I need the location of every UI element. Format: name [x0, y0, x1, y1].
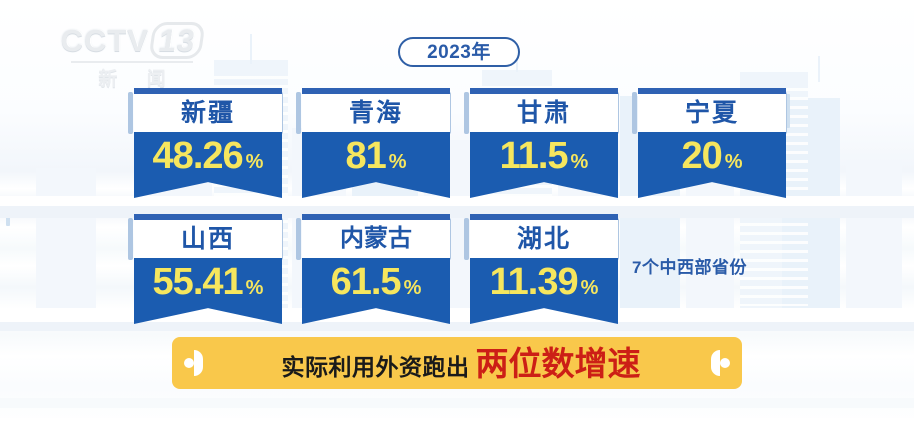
year-badge-label: 2023年 [427, 43, 491, 62]
skyline-antenna [250, 34, 252, 64]
card-separator [128, 218, 133, 260]
card-value-ribbon: 55.41 % [134, 258, 282, 324]
logo-subtitle: 新 闻 [52, 64, 212, 91]
headline-banner: 实际利用外资跑出 两位数增速 [172, 337, 742, 389]
card-separator [128, 92, 133, 134]
province-name: 新疆 [134, 94, 282, 132]
percent-symbol: % [389, 152, 407, 172]
province-card[interactable]: 山西 55.41 % [134, 214, 282, 324]
year-badge: 2023年 [398, 37, 520, 67]
province-value: 48.26 [153, 137, 243, 175]
banner-notch-left [194, 350, 203, 376]
province-card[interactable]: 新疆 48.26 % [134, 88, 282, 198]
percent-symbol: % [246, 278, 264, 298]
logo-channel-text: CCTV [61, 23, 149, 58]
province-card[interactable]: 甘肃 11.5 % [470, 88, 618, 198]
province-card[interactable]: 宁夏 20 % [638, 88, 786, 198]
province-value: 81 [345, 137, 385, 175]
banner-eyelet-right [720, 358, 730, 368]
percent-symbol: % [725, 152, 743, 172]
province-card[interactable]: 青海 81 % [302, 88, 450, 198]
skyline-building [36, 168, 96, 310]
province-name: 宁夏 [638, 94, 786, 132]
province-value: 11.39 [490, 263, 578, 301]
banner-notch-right [711, 350, 720, 376]
percent-symbol: % [571, 152, 589, 172]
skyline-antenna [818, 56, 820, 82]
province-name: 甘肃 [470, 94, 618, 132]
province-value: 11.5 [500, 137, 568, 175]
province-name: 青海 [302, 94, 450, 132]
percent-symbol: % [581, 278, 599, 298]
card-value-ribbon: 81 % [302, 132, 450, 198]
province-card[interactable]: 内蒙古 61.5 % [302, 214, 450, 324]
percent-symbol: % [246, 152, 264, 172]
card-value-ribbon: 11.5 % [470, 132, 618, 198]
province-value: 20 [681, 137, 721, 175]
cctv13-logo-watermark: CCTV13 新 闻 [52, 22, 212, 91]
province-name: 山西 [134, 220, 282, 258]
banner-highlight-text: 两位数增速 [476, 347, 641, 380]
banner-eyelet-left [184, 358, 194, 368]
card-separator [464, 218, 469, 260]
province-card[interactable]: 湖北 11.39 % [470, 214, 618, 324]
province-value: 61.5 [331, 263, 401, 301]
card-separator [296, 218, 301, 260]
card-value-ribbon: 61.5 % [302, 258, 450, 324]
logo-divider [71, 61, 193, 63]
card-separator [632, 92, 637, 134]
card-separator [296, 92, 301, 134]
card-value-ribbon: 11.39 % [470, 258, 618, 324]
background-band [0, 398, 914, 408]
province-name: 内蒙古 [302, 220, 450, 258]
side-note-label: 7个中西部省份 [632, 259, 747, 276]
banner-lead-text: 实际利用外资跑出 [282, 356, 470, 379]
card-separator [464, 92, 469, 134]
province-name: 湖北 [470, 220, 618, 258]
province-value: 55.41 [153, 263, 243, 301]
card-value-ribbon: 48.26 % [134, 132, 282, 198]
background-band [0, 418, 914, 429]
skyline-building [846, 160, 902, 310]
card-value-ribbon: 20 % [638, 132, 786, 198]
percent-symbol: % [404, 278, 422, 298]
logo-channel-number: 13 [148, 22, 206, 59]
